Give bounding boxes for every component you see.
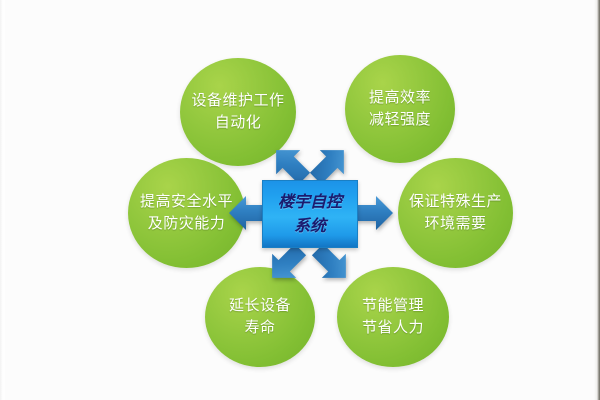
- bubble-right-line1: 保证特殊生产: [409, 191, 502, 213]
- arrow-right-icon: [352, 190, 394, 236]
- bubble-top-right: 提高效率 减轻强度: [345, 55, 455, 163]
- bubble-right: 保证特殊生产 环境需要: [398, 158, 513, 268]
- center-node: 楼宇自控 系统: [262, 180, 358, 248]
- bubble-bottom-left-line1: 延长设备: [229, 295, 291, 317]
- bubble-bottom-right-line1: 节能管理: [362, 295, 424, 317]
- bubble-bottom-right-line2: 节省人力: [362, 317, 424, 339]
- center-node-line1: 楼宇自控: [278, 190, 342, 214]
- bubble-top-left-line1: 设备维护工作: [191, 90, 284, 112]
- bubble-top-right-line1: 提高效率: [369, 87, 431, 109]
- bubble-left-line1: 提高安全水平: [140, 191, 233, 213]
- bubble-bottom-left-line2: 寿命: [244, 317, 275, 339]
- diagram-canvas: 设备维护工作 自动化 提高效率 减轻强度 提高安全水平 及防灾能力 保证特殊生产…: [0, 0, 600, 400]
- bubble-top-left-line2: 自动化: [215, 112, 262, 134]
- bubble-top-right-line2: 减轻强度: [369, 109, 431, 131]
- bubble-left-line2: 及防灾能力: [148, 213, 226, 235]
- center-node-line2: 系统: [294, 214, 326, 238]
- bubble-right-line2: 环境需要: [424, 213, 486, 235]
